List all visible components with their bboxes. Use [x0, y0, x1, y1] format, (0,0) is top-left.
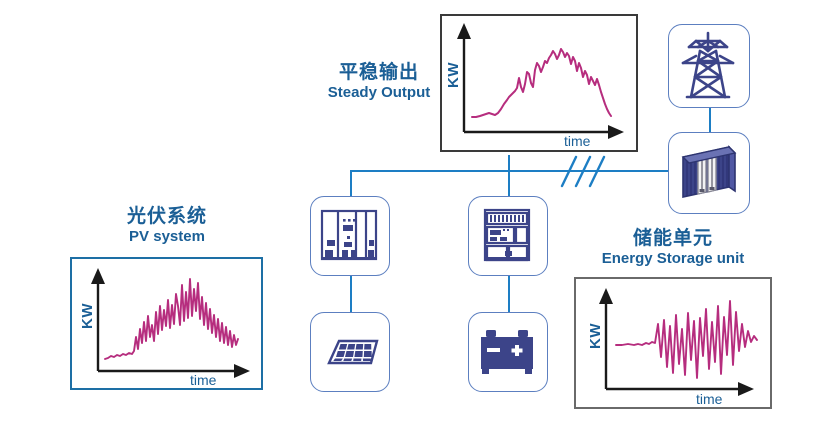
series-line — [472, 49, 611, 117]
inverter-cabinet-icon — [469, 197, 545, 273]
tile-battery[interactable] — [468, 312, 548, 392]
label-pv-system-en: PV system — [106, 229, 228, 245]
y-axis-label: KW — [79, 303, 96, 329]
diagram-canvas: KW time 平稳输出 Steady Output KW time 光伏系统 … — [0, 0, 835, 430]
battery-container-icon — [669, 133, 747, 211]
label-steady-output-cn: 平稳输出 — [318, 62, 440, 83]
tile-transmission-tower[interactable] — [668, 24, 750, 108]
label-pv-system: 光伏系统 PV system — [106, 206, 228, 245]
transmission-tower-icon — [669, 25, 747, 105]
tile-solar-panel[interactable] — [310, 312, 390, 392]
label-steady-output-en: Steady Output — [318, 85, 440, 101]
tile-electrical-cabinet[interactable] — [310, 196, 390, 276]
electrical-cabinet-icon — [311, 197, 387, 273]
label-energy-storage: 储能单元 Energy Storage unit — [578, 228, 768, 267]
label-energy-storage-cn: 储能单元 — [578, 228, 768, 249]
chart-energy-storage: KW time — [574, 277, 772, 409]
x-axis-label: time — [564, 133, 591, 149]
series-line — [105, 279, 238, 359]
x-axis-label: time — [696, 391, 723, 407]
label-steady-output: 平稳输出 Steady Output — [318, 62, 440, 101]
y-axis-label: KW — [445, 62, 462, 88]
chart-steady-output: KW time — [440, 14, 638, 152]
solar-panel-icon — [311, 313, 387, 389]
label-pv-system-cn: 光伏系统 — [106, 206, 228, 227]
battery-icon — [469, 313, 545, 389]
bus-drop-inverter — [508, 170, 510, 196]
series-line — [616, 301, 757, 378]
bus-drop-combiner — [350, 170, 352, 196]
y-axis-label: KW — [587, 323, 604, 349]
container-to-pylon-wire — [709, 108, 711, 132]
label-energy-storage-en: Energy Storage unit — [578, 251, 768, 267]
chart-pv-system: KW time — [70, 257, 263, 390]
x-axis-label: time — [190, 372, 217, 388]
tile-inverter-cabinet[interactable] — [468, 196, 548, 276]
combiner-to-panel-wire — [350, 276, 352, 312]
three-phase-marks-icon — [556, 152, 616, 192]
inverter-to-battery-wire — [508, 276, 510, 312]
tile-battery-container[interactable] — [668, 132, 750, 214]
